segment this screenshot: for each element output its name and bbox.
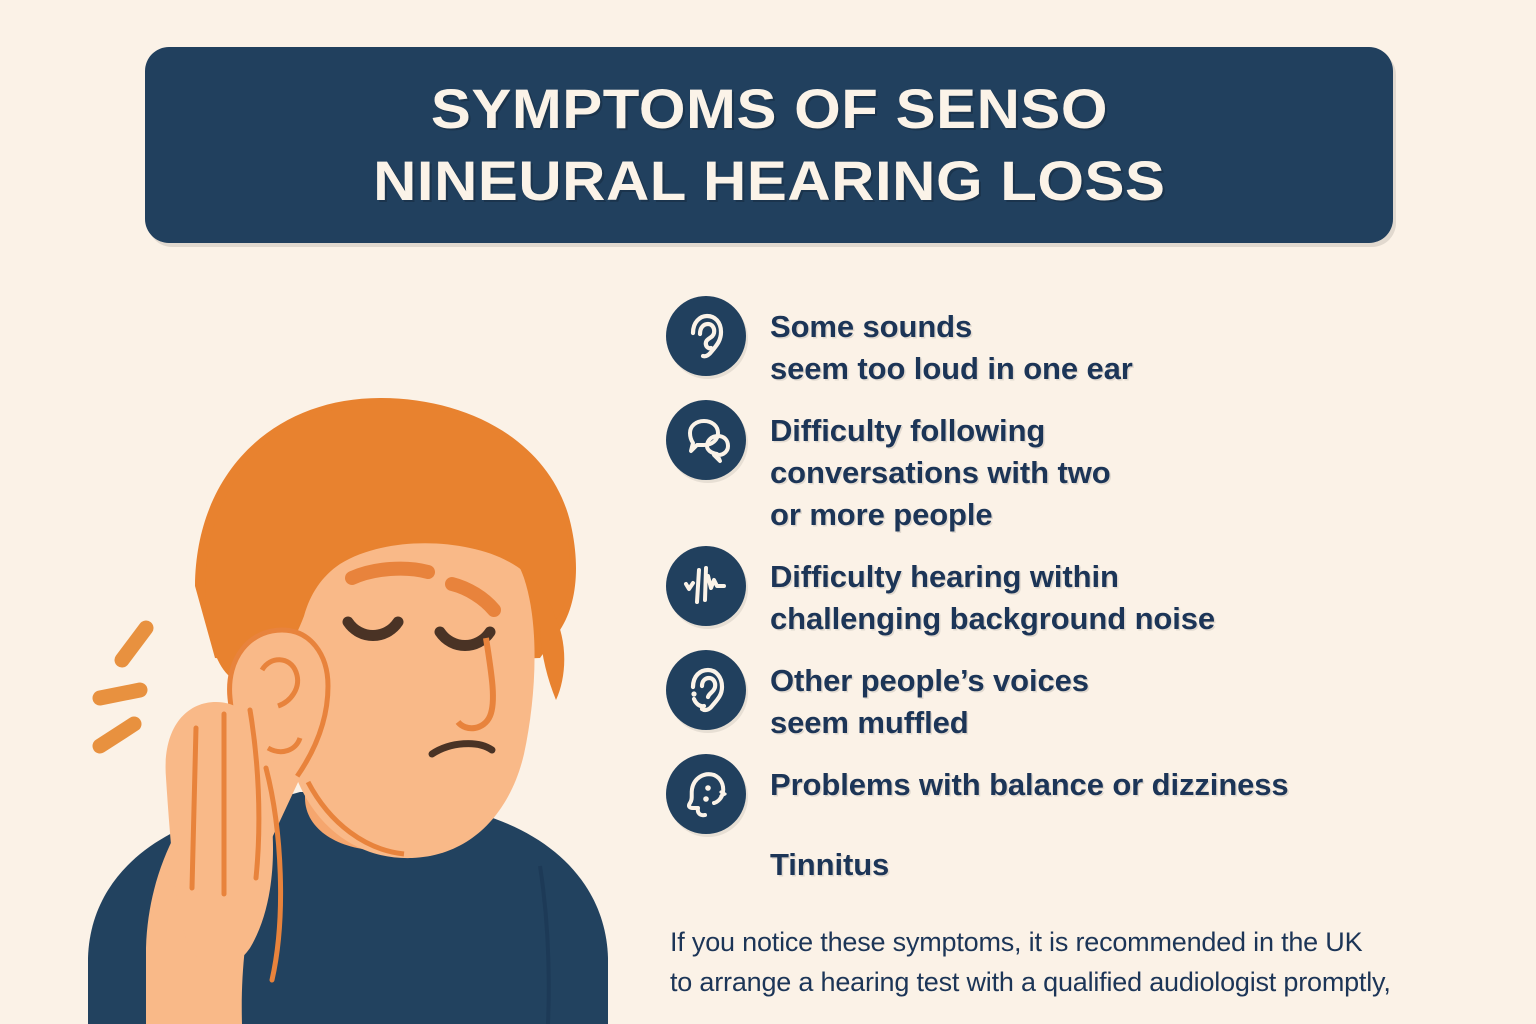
head-profile-dizziness-icon bbox=[666, 754, 746, 834]
symptom-item: Difficulty following conversations with … bbox=[666, 400, 1526, 536]
ear-icon bbox=[666, 296, 746, 376]
speech-bubbles-icon bbox=[666, 400, 746, 480]
page-title-line-1: SYMPTOMS OF SENSO bbox=[430, 73, 1107, 145]
footer-line-1: If you notice these symptoms, it is reco… bbox=[670, 922, 1470, 962]
symptom-item: Some sounds seem too loud in one ear bbox=[666, 296, 1526, 390]
symptom-line: Problems with balance or dizziness bbox=[770, 764, 1289, 806]
symptom-label: Problems with balance or dizziness bbox=[770, 754, 1289, 806]
ear-muffled-icon bbox=[666, 650, 746, 730]
symptom-line: or more people bbox=[770, 494, 1111, 536]
symptom-label: Difficulty hearing within challenging ba… bbox=[770, 546, 1215, 640]
sound-waveform-icon bbox=[666, 546, 746, 626]
symptom-item: Difficulty hearing within challenging ba… bbox=[666, 546, 1526, 640]
symptom-line: Other people’s voices bbox=[770, 660, 1089, 702]
page-title-banner: SYMPTOMS OF SENSO NINEURAL HEARING LOSS bbox=[145, 47, 1393, 243]
symptom-line: conversations with two bbox=[770, 452, 1111, 494]
footer-note: If you notice these symptoms, it is reco… bbox=[670, 922, 1470, 1002]
symptom-line: Some sounds bbox=[770, 306, 1133, 348]
sound-dash-top bbox=[122, 628, 146, 660]
symptom-line: Difficulty following bbox=[770, 410, 1111, 452]
symptom-list: Some sounds seem too loud in one ear Dif… bbox=[666, 296, 1526, 902]
symptom-item: Tinnitus bbox=[666, 844, 1526, 896]
symptom-line: seem muffled bbox=[770, 702, 1089, 744]
icon-spacer bbox=[666, 844, 746, 848]
symptom-label: Difficulty following conversations with … bbox=[770, 400, 1111, 536]
symptom-line: challenging background noise bbox=[770, 598, 1215, 640]
symptom-label: Tinnitus bbox=[770, 844, 889, 886]
symptom-label: Other people’s voices seem muffled bbox=[770, 650, 1089, 744]
symptom-label: Some sounds seem too loud in one ear bbox=[770, 296, 1133, 390]
sound-dash-middle bbox=[100, 690, 140, 698]
symptom-line: Tinnitus bbox=[770, 844, 889, 886]
footer-line-2: to arrange a hearing test with a qualifi… bbox=[670, 962, 1470, 1002]
sound-dash-bottom bbox=[100, 724, 134, 746]
symptom-line: seem too loud in one ear bbox=[770, 348, 1133, 390]
symptom-item: Other people’s voices seem muffled bbox=[666, 650, 1526, 744]
page-title-line-2: NINEURAL HEARING LOSS bbox=[373, 145, 1165, 217]
symptom-line: Difficulty hearing within bbox=[770, 556, 1215, 598]
man-cupping-ear-illustration bbox=[0, 258, 660, 1024]
symptom-item: Problems with balance or dizziness bbox=[666, 754, 1526, 834]
